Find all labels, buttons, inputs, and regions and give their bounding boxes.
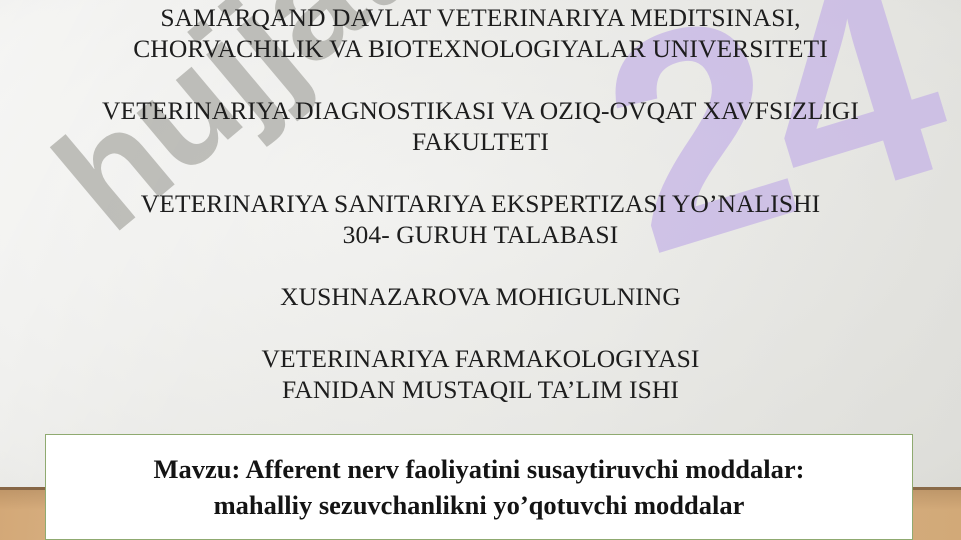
heading-line-2: CHORVACHILIK VA BIOTEXNOLOGIYALAR UNIVER… bbox=[0, 33, 961, 64]
topic-title-box: Mavzu: Afferent nerv faoliyatini susayti… bbox=[45, 434, 913, 540]
heading-line-9: FANIDAN MUSTAQIL TA’LIM ISHI bbox=[0, 374, 961, 405]
heading-line-1: SAMARQAND DAVLAT VETERINARIYA MEDITSINAS… bbox=[0, 2, 961, 33]
heading-line-6: 304- GURUH TALABASI bbox=[0, 219, 961, 250]
heading-spacer-4 bbox=[0, 312, 961, 343]
topic-title-line-1: Mavzu: Afferent nerv faoliyatini susayti… bbox=[154, 451, 805, 487]
heading-line-4: FAKULTETI bbox=[0, 126, 961, 157]
heading-block: SAMARQAND DAVLAT VETERINARIYA MEDITSINAS… bbox=[0, 0, 961, 405]
heading-line-5: VETERINARIYA SANITARIYA EKSPERTIZASI YO’… bbox=[0, 188, 961, 219]
heading-spacer-3 bbox=[0, 250, 961, 281]
heading-line-8: VETERINARIYA FARMAKOLOGIYASI bbox=[0, 343, 961, 374]
heading-line-7: XUSHNAZAROVA MOHIGULNING bbox=[0, 281, 961, 312]
topic-title-line-2: mahalliy sezuvchanlikni yo’qotuvchi modd… bbox=[214, 487, 745, 523]
presentation-slide: 24 hujjat SAMARQAND DAVLAT VETERINARIYA … bbox=[0, 0, 961, 540]
heading-line-3: VETERINARIYA DIAGNOSTIKASI VA OZIQ-OVQAT… bbox=[0, 95, 961, 126]
heading-spacer-1 bbox=[0, 64, 961, 95]
heading-spacer-2 bbox=[0, 157, 961, 188]
